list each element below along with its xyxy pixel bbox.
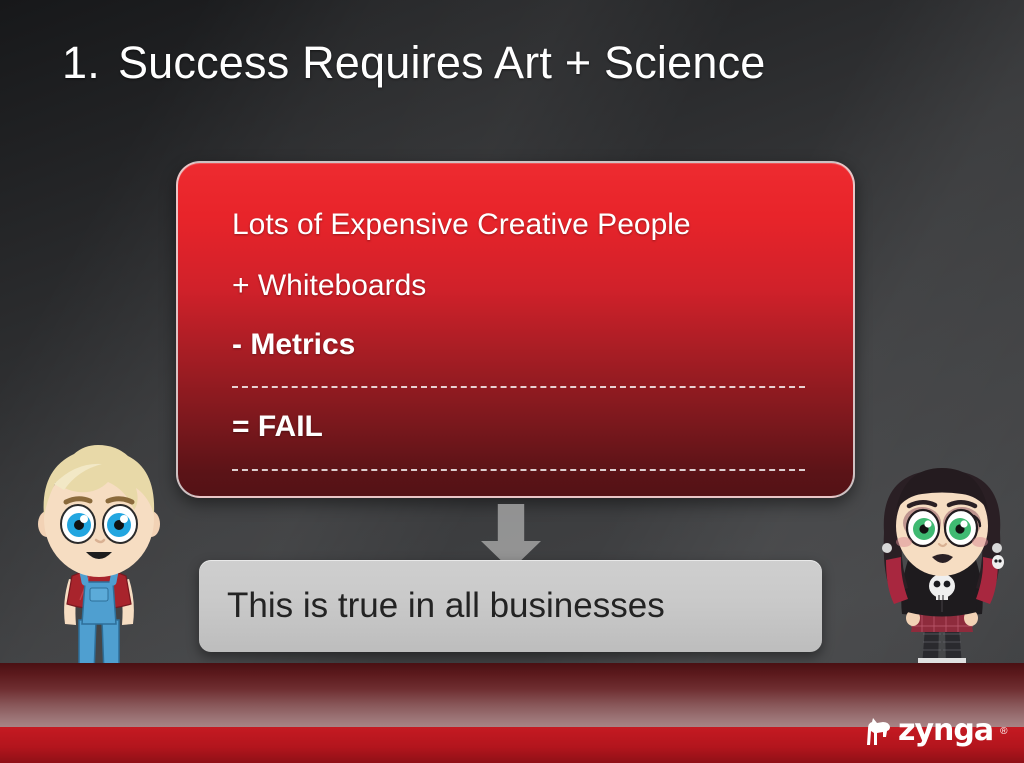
title-number: 1. — [62, 37, 100, 88]
red-line-4: = FAIL — [232, 411, 805, 443]
dashed-separator-1 — [232, 386, 805, 388]
slide-canvas: 1.Success Requires Art + Science — [0, 0, 1024, 763]
callout-box: This is true in all businesses — [199, 560, 822, 652]
red-equation-box: Lots of Expensive Creative People + Whit… — [176, 161, 855, 498]
blond-boy-avatar — [6, 424, 192, 704]
dashed-separator-2 — [232, 469, 805, 471]
red-line-2: + Whiteboards — [232, 270, 805, 302]
red-line-3: - Metrics — [232, 329, 805, 361]
registered-mark: ® — [1000, 726, 1007, 737]
zynga-logo: zynga ® — [866, 716, 1007, 746]
title-text: Success Requires Art + Science — [118, 37, 766, 88]
red-line-1: Lots of Expensive Creative People — [232, 209, 805, 241]
page-title: 1.Success Requires Art + Science — [62, 37, 766, 89]
red-box-lines: Lots of Expensive Creative People + Whit… — [232, 203, 805, 471]
callout-text: This is true in all businesses — [227, 586, 665, 626]
zynga-wordmark: zynga — [898, 716, 993, 746]
zynga-dog-icon — [866, 716, 892, 746]
